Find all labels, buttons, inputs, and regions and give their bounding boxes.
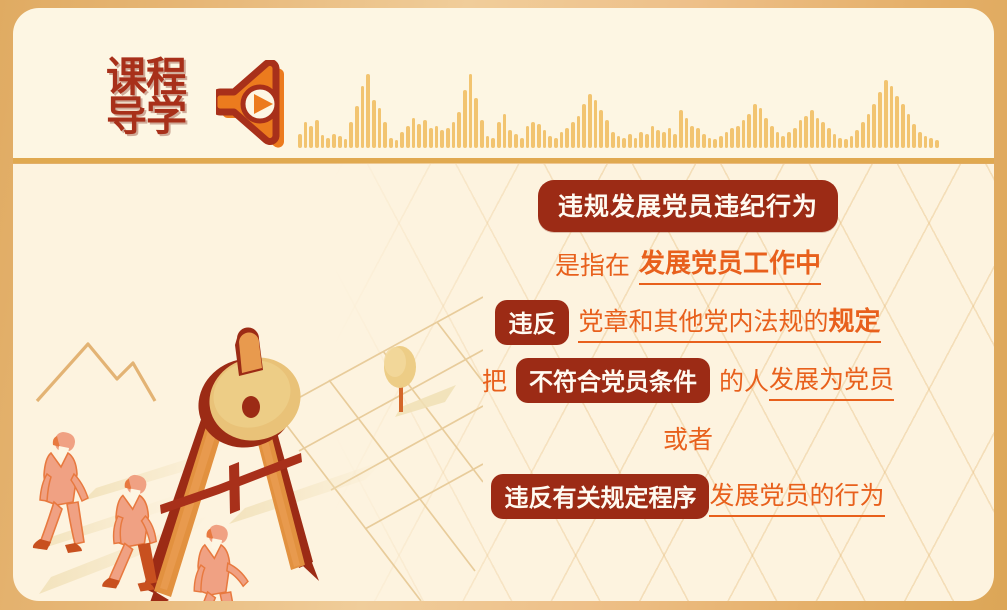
- definition-line-6: 违反有关规定程序 发展党员的行为: [491, 472, 884, 520]
- waveform-bar: [685, 118, 689, 148]
- waveform-bar: [673, 134, 677, 148]
- waveform-bar: [804, 116, 808, 148]
- waveform-bar: [690, 126, 694, 148]
- waveform-bar: [912, 124, 916, 148]
- waveform-bar: [452, 122, 456, 148]
- waveform-bar: [753, 104, 757, 148]
- waveform-bar: [326, 138, 330, 148]
- waveform-bar: [702, 134, 706, 148]
- waveform-bar: [355, 106, 359, 148]
- waveform-bar: [708, 138, 712, 148]
- waveform-bar: [395, 140, 399, 148]
- waveform-bar: [503, 114, 507, 148]
- outer-frame: 课程 导学: [0, 0, 1007, 610]
- waveform-bar: [429, 128, 433, 148]
- waveform-bar: [537, 124, 541, 148]
- waveform-bar: [634, 138, 638, 148]
- waveform-bar: [531, 122, 535, 148]
- waveform-bar: [571, 122, 575, 148]
- waveform-bar: [554, 138, 558, 148]
- waveform-bar: [924, 136, 928, 148]
- waveform-bar: [491, 138, 495, 148]
- waveform-bar: [622, 138, 626, 148]
- waveform-bar: [440, 130, 444, 148]
- waveform-bar: [867, 114, 871, 148]
- waveform-bar: [793, 128, 797, 148]
- definition-line-3: 违反 党章和其他党内法规的 规定: [495, 298, 880, 346]
- waveform-bar: [560, 132, 564, 148]
- waveform-bar: [361, 86, 365, 148]
- line-3-emphasis: 规定: [829, 301, 881, 343]
- waveform-bar: [389, 138, 393, 148]
- waveform-bar: [651, 126, 655, 148]
- waveform-bar: [935, 140, 939, 148]
- waveform-bar: [730, 128, 734, 148]
- waveform-bar: [372, 100, 376, 148]
- waveform-bar: [679, 110, 683, 148]
- waveform-bar: [508, 130, 512, 148]
- waveform-bar: [417, 124, 421, 148]
- waveform-bar: [611, 132, 615, 148]
- waveform-bar: [366, 74, 370, 148]
- waveform-bar: [446, 128, 450, 148]
- waveform-bar: [582, 104, 586, 148]
- waveform-bar: [565, 128, 569, 148]
- waveform-bar: [497, 122, 501, 148]
- waveform-bar: [907, 114, 911, 148]
- waveform-bar: [901, 104, 905, 148]
- waveform-bar: [696, 128, 700, 148]
- waveform-bar: [628, 134, 632, 148]
- waveform-bar: [605, 120, 609, 148]
- speaker-play-icon[interactable]: [216, 60, 298, 152]
- waveform-bar: [344, 139, 348, 148]
- line-4-emphasis: 发展为党员: [769, 360, 894, 401]
- waveform-bar: [855, 130, 859, 148]
- waveform-bar: [838, 138, 842, 148]
- waveform-bar: [423, 120, 427, 148]
- waveform-bar: [890, 86, 894, 148]
- line-6-emphasis: 发展党员的行为: [709, 476, 884, 517]
- waveform-bar: [474, 98, 478, 148]
- waveform-bar: [918, 132, 922, 148]
- waveform-bar: [639, 132, 643, 148]
- waveform-bar: [656, 130, 660, 148]
- main-panel: 发展党员 发展党员 发展党员 违规发展党员违纪行为 是指在 发展党员工作中 违反…: [13, 164, 994, 601]
- line-6-badge: 违反有关规定程序: [491, 474, 709, 519]
- waveform-bar: [599, 110, 603, 148]
- waveform-bar: [594, 100, 598, 148]
- waveform-bar: [776, 132, 780, 148]
- page-title-line-2: 导学: [106, 97, 206, 136]
- waveform-bar: [520, 138, 524, 148]
- waveform-bar: [514, 134, 518, 148]
- waveform-bar: [332, 134, 336, 148]
- line-3-badge: 违反: [495, 300, 569, 345]
- waveform-bar: [895, 96, 899, 148]
- waveform-bar: [759, 108, 763, 148]
- waveform-bar: [764, 118, 768, 148]
- line-4-middle: 的人: [719, 362, 769, 398]
- line-2-prefix: 是指在: [555, 246, 630, 282]
- waveform-bar: [435, 126, 439, 148]
- waveform-bar: [799, 120, 803, 148]
- waveform-bar: [861, 122, 865, 148]
- definition-title-badge: 违规发展党员违纪行为: [538, 182, 838, 230]
- waveform-bar: [816, 118, 820, 148]
- illustration-develop-party-members: [13, 164, 483, 601]
- waveform-bar: [412, 118, 416, 148]
- waveform-bar: [321, 135, 325, 148]
- waveform-bar: [810, 110, 814, 148]
- waveform-bar: [309, 126, 313, 148]
- waveform-bar: [548, 136, 552, 148]
- header-panel: 课程 导学: [13, 8, 994, 158]
- waveform-bar: [736, 126, 740, 148]
- definition-title-text: 违规发展党员违纪行为: [538, 180, 838, 232]
- waveform-bar: [383, 122, 387, 148]
- waveform-bar: [827, 128, 831, 148]
- waveform-bar: [543, 130, 547, 148]
- waveform-bar: [770, 126, 774, 148]
- waveform-bar: [645, 134, 649, 148]
- waveform-bar: [526, 126, 530, 148]
- waveform-bar: [457, 112, 461, 148]
- waveform-bar: [349, 122, 353, 148]
- waveform-bar: [844, 139, 848, 148]
- waveform-bar: [463, 90, 467, 148]
- definition-text-block: 违规发展党员违纪行为 是指在 发展党员工作中 违反 党章和其他党内法规的 规定 …: [443, 174, 933, 594]
- waveform-bar: [662, 132, 666, 148]
- waveform-bar: [781, 136, 785, 148]
- line-4-badge: 不符合党员条件: [516, 358, 710, 403]
- waveform-bar: [747, 114, 751, 148]
- waveform-bar: [378, 108, 382, 148]
- waveform-bar: [821, 122, 825, 148]
- waveform-bar: [469, 74, 473, 148]
- line-3-text: 党章和其他党内法规的: [578, 302, 828, 343]
- waveform-bar: [486, 136, 490, 148]
- waveform-bar: [884, 80, 888, 148]
- waveform-bar: [588, 94, 592, 148]
- waveform-bar: [304, 122, 308, 148]
- compass-divider: [143, 327, 319, 601]
- waveform-bar: [577, 116, 581, 148]
- line-2-emphasis: 发展党员工作中: [639, 243, 821, 285]
- definition-line-5: 或者: [663, 414, 713, 462]
- waveform-bar: [617, 136, 621, 148]
- waveform-bar: [878, 92, 882, 148]
- waveform-bar: [480, 120, 484, 148]
- waveform-bar: [742, 120, 746, 148]
- line-5-text: 或者: [663, 420, 713, 456]
- waveform-bar: [400, 132, 404, 148]
- audio-waveform[interactable]: [298, 44, 938, 148]
- line-4-prefix: 把: [482, 362, 507, 398]
- waveform-bar: [713, 139, 717, 148]
- waveform-bar: [725, 132, 729, 148]
- waveform-bar: [929, 138, 933, 148]
- header-divider: [13, 158, 994, 163]
- waveform-bar: [338, 136, 342, 148]
- definition-line-2: 是指在 发展党员工作中: [555, 240, 821, 288]
- waveform-bar: [872, 104, 876, 148]
- waveform-bar: [406, 126, 410, 148]
- definition-line-4: 把 不符合党员条件 的人 发展为党员: [482, 356, 894, 404]
- mountain-outline: [37, 344, 155, 401]
- waveform-bar: [668, 128, 672, 148]
- waveform-bar: [719, 136, 723, 148]
- waveform-bar: [850, 136, 854, 148]
- waveform-bar: [298, 134, 302, 148]
- walking-person: [185, 525, 248, 601]
- waveform-bar: [833, 134, 837, 148]
- waveform-bar: [787, 132, 791, 148]
- page-title: 课程 导学: [106, 58, 206, 153]
- waveform-bar: [315, 120, 319, 148]
